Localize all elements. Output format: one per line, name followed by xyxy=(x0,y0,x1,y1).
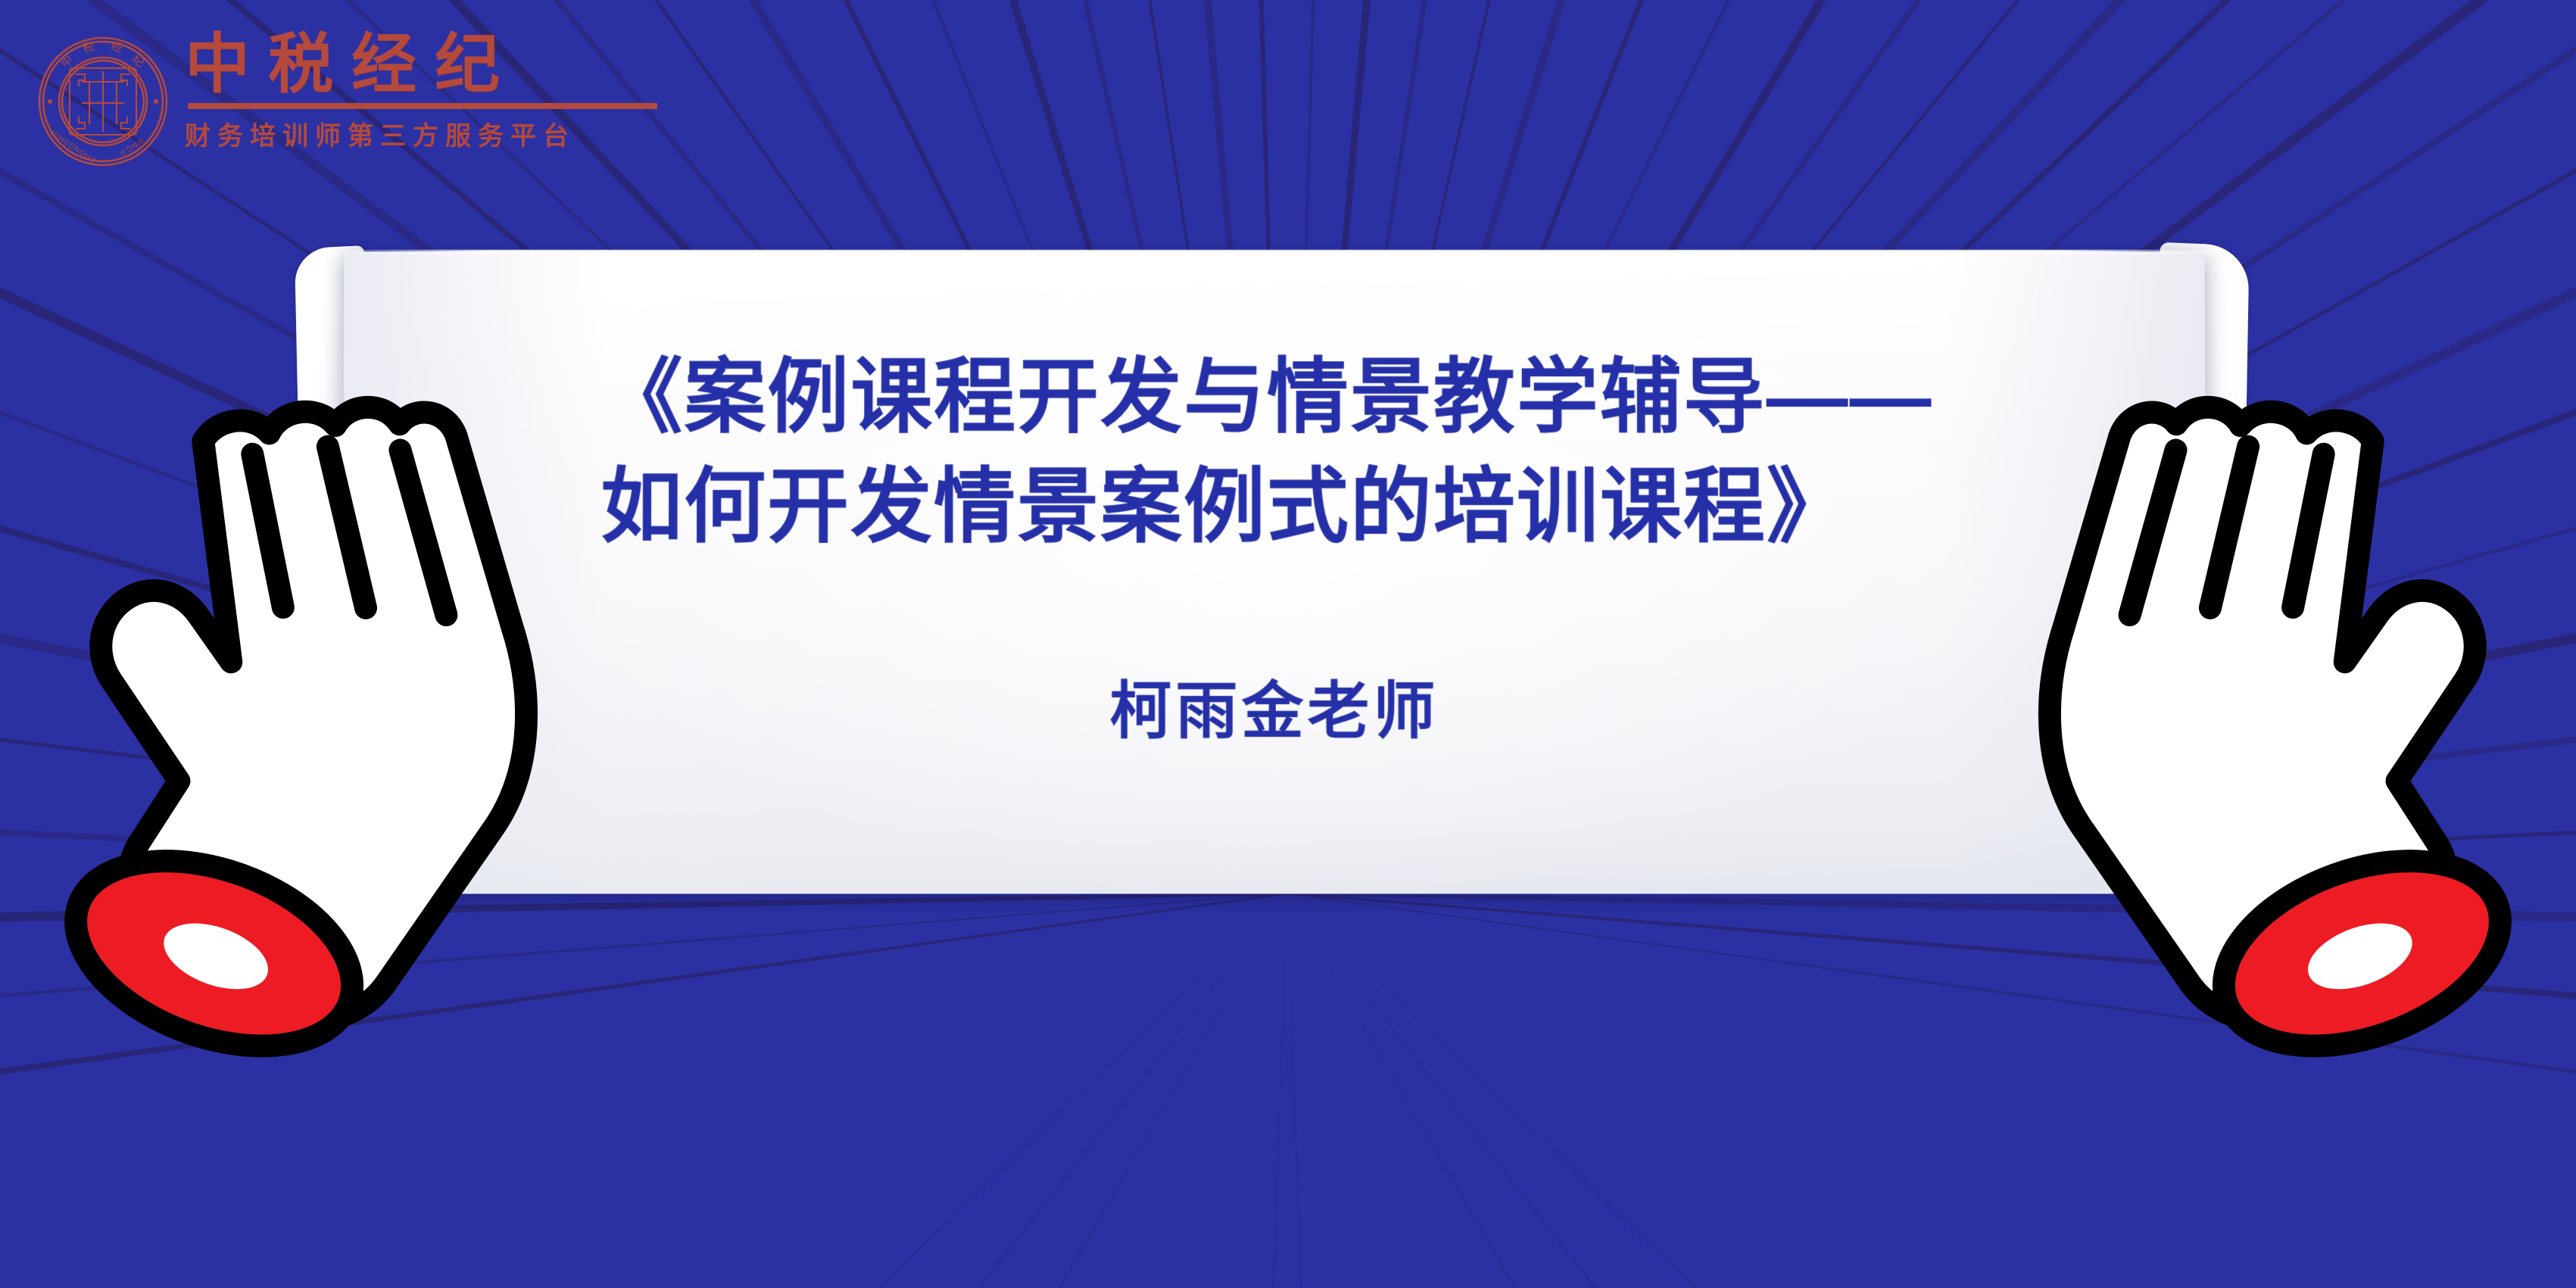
clapping-hand-right-icon xyxy=(2008,342,2576,1092)
brand-tagline: 财务培训师第三方服务平台 xyxy=(185,115,730,152)
clapping-hand-left-icon xyxy=(0,342,568,1092)
brand-wordmark: 中税经纪 财务培训师第三方服务平台 xyxy=(185,30,730,167)
course-title-line-1: 《案例课程开发与情景教学辅导—— xyxy=(600,342,2038,452)
svg-text:纪: 纪 xyxy=(129,52,146,70)
speaker-name: 柯雨金老师 xyxy=(342,660,2206,750)
brand-logo: 中 税 经 纪 ZHONGSHUI JINGJI 中税经纪 财务培训师第三方服务… xyxy=(36,30,733,167)
scroll-banner-top-edge xyxy=(341,250,2210,254)
course-title-line-2: 如何开发情景案例式的培训课程》 xyxy=(600,452,2039,562)
wordmark-divider xyxy=(188,103,657,109)
scroll-banner-surface: 《案例课程开发与情景教学辅导—— 如何开发情景案例式的培训课程》 柯雨金老师 xyxy=(342,251,2207,893)
circular-seal-stamp-icon: 中 税 经 纪 ZHONGSHUI JINGJI xyxy=(36,35,170,168)
brand-name: 中税经纪 xyxy=(185,30,730,98)
svg-text:经: 经 xyxy=(109,40,123,55)
scroll-banner: 《案例课程开发与情景教学辅导—— 如何开发情景案例式的培训课程》 柯雨金老师 xyxy=(301,239,2244,906)
presentation-slide: 中 税 经 纪 ZHONGSHUI JINGJI 中税经纪 财务培训师第三方服务… xyxy=(0,0,2576,1288)
course-title: 《案例课程开发与情景教学辅导—— 如何开发情景案例式的培训课程》 xyxy=(600,342,2039,561)
banner-text-area: 《案例课程开发与情景教学辅导—— 如何开发情景案例式的培训课程》 柯雨金老师 xyxy=(342,251,2207,893)
